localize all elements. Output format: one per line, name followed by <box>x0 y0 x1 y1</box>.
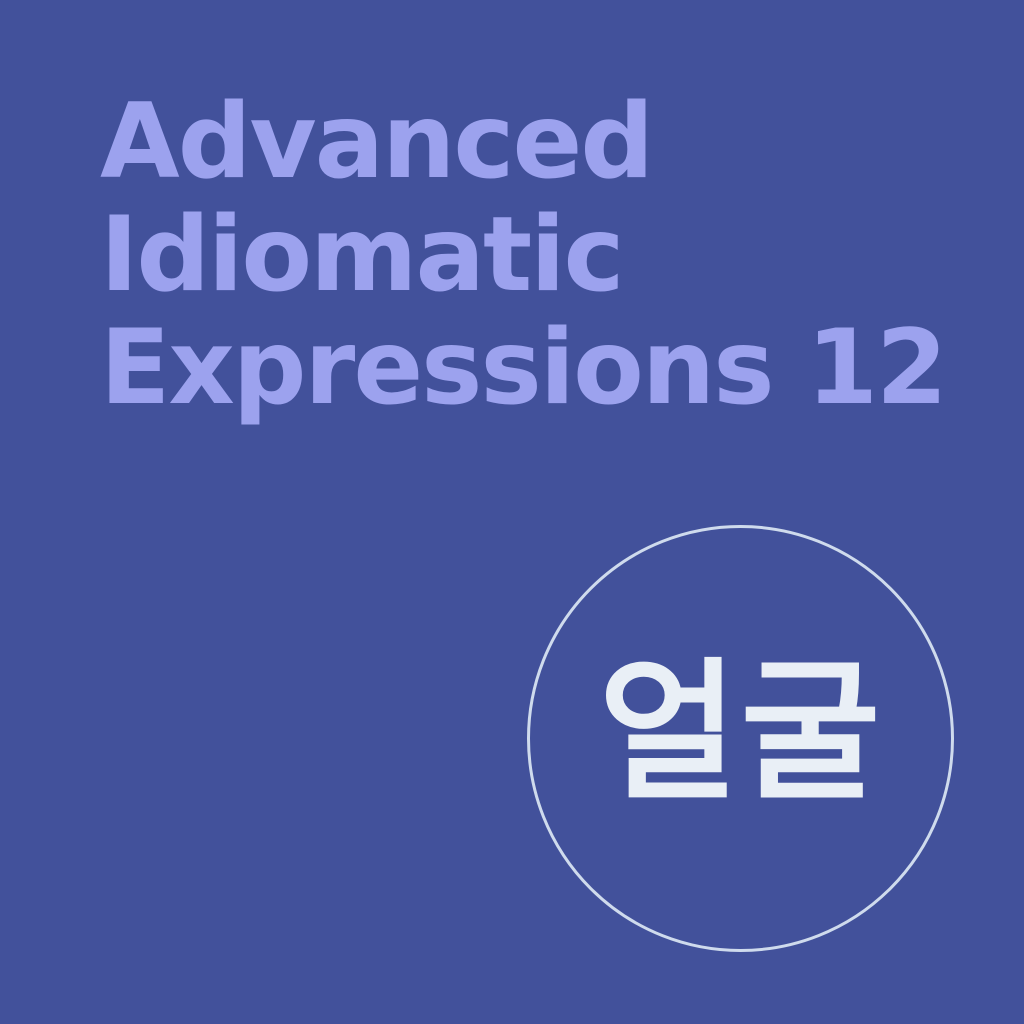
title-line-1: Advanced <box>100 86 900 199</box>
korean-term-text: 얼굴 <box>599 657 883 809</box>
title-line-2: Idiomatic <box>100 199 900 312</box>
title-line-3: Expressions 12 <box>100 312 900 425</box>
page-title: Advanced Idiomatic Expressions 12 <box>100 86 900 425</box>
lesson-card: Advanced Idiomatic Expressions 12 얼굴 <box>0 0 1024 1024</box>
korean-term-badge: 얼굴 <box>527 525 954 952</box>
